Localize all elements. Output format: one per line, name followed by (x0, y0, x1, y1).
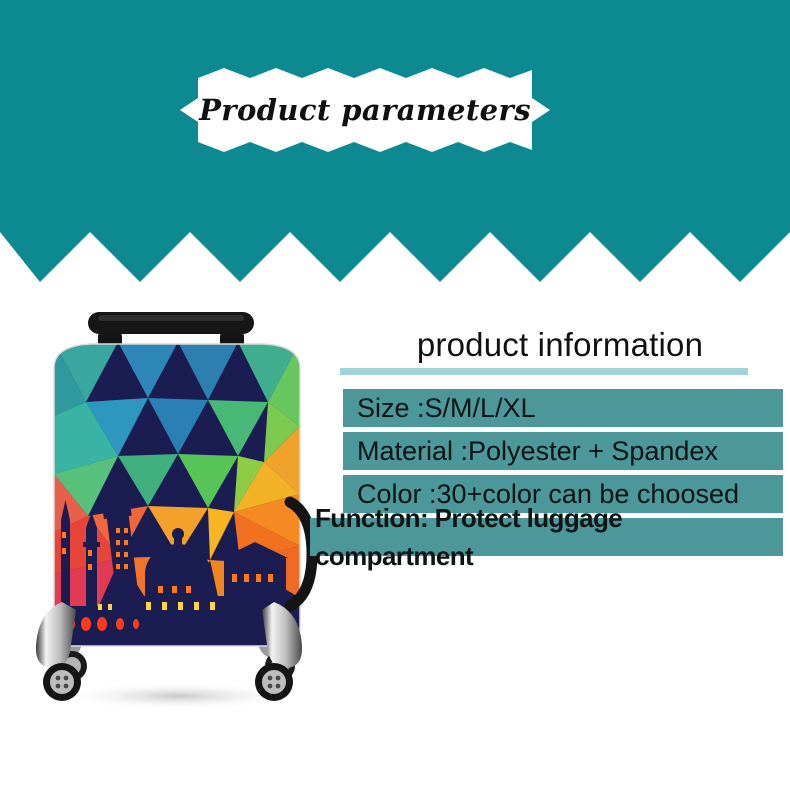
info-heading: product information (305, 325, 785, 365)
luggage-cover-print (54, 342, 300, 686)
product-parameters-page: Product parameters (0, 0, 790, 790)
banner-ribbon: Product parameters (180, 68, 550, 152)
spec-row-function: Function: Protect luggage compartment (310, 518, 783, 556)
product-image-suitcase (28, 306, 328, 716)
spec-rows: Size :S/M/L/XL Material :Polyester + Spa… (305, 389, 785, 556)
spec-row-size: Size :S/M/L/XL (343, 389, 783, 427)
spec-row-material: Material :Polyester + Spandex (343, 432, 783, 470)
banner-title: Product parameters (180, 68, 550, 152)
product-information-panel: product information Size :S/M/L/XL Mater… (305, 325, 785, 556)
heading-underline (340, 368, 748, 375)
